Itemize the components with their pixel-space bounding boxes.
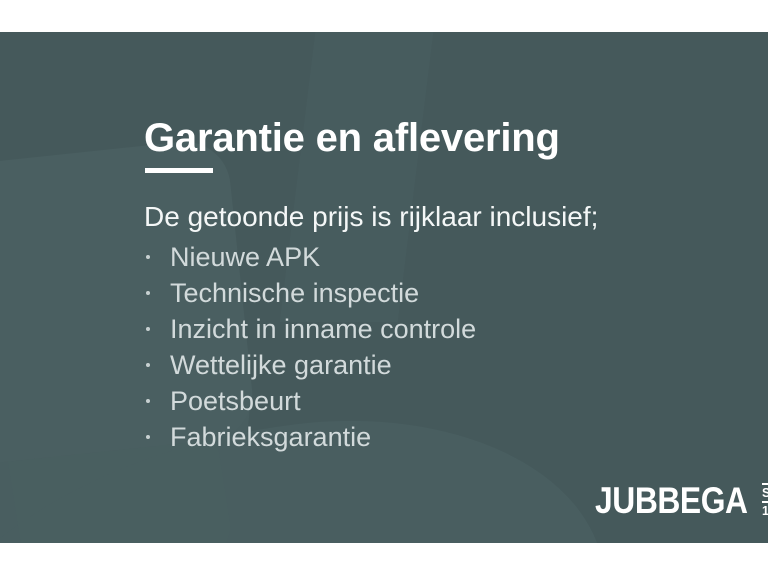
bullet-dot-icon: [146, 327, 150, 331]
logo-wordmark: JUBBEGA: [595, 484, 748, 517]
page-title: Garantie en aflevering: [144, 118, 560, 158]
list-item-label: Inzicht in inname controle: [144, 311, 704, 347]
slide-frame: Garantie en aflevering De getoonde prijs…: [0, 0, 768, 576]
list-item-label: Wettelijke garantie: [144, 347, 704, 383]
list-item: Inzicht in inname controle: [144, 311, 704, 347]
list-item: Poetsbeurt: [144, 383, 704, 419]
slide-canvas: Garantie en aflevering De getoonde prijs…: [0, 32, 768, 543]
list-item-label: Poetsbeurt: [144, 383, 704, 419]
list-item: Technische inspectie: [144, 275, 704, 311]
bullet-dot-icon: [146, 255, 150, 259]
title-underline-rule: [145, 168, 213, 173]
list-item: Fabrieksgarantie: [144, 419, 704, 455]
jubbega-logo: JUBBEGA SINDS 1924: [595, 482, 768, 518]
list-item: Wettelijke garantie: [144, 347, 704, 383]
list-item-label: Fabrieksgarantie: [144, 419, 704, 455]
logo-since-year: 1924: [762, 503, 768, 518]
list-item: Nieuwe APK: [144, 239, 704, 275]
bullet-dot-icon: [146, 363, 150, 367]
logo-since-block: SINDS 1924: [762, 483, 768, 518]
bullet-dot-icon: [146, 291, 150, 295]
list-item-label: Nieuwe APK: [144, 239, 704, 275]
bullet-dot-icon: [146, 399, 150, 403]
logo-since-label: SINDS: [762, 485, 768, 501]
benefits-list: Nieuwe APK Technische inspectie Inzicht …: [144, 239, 704, 455]
list-item-label: Technische inspectie: [144, 275, 704, 311]
bullet-dot-icon: [146, 435, 150, 439]
slide-subtitle: De getoonde prijs is rijklaar inclusief;: [144, 200, 598, 233]
